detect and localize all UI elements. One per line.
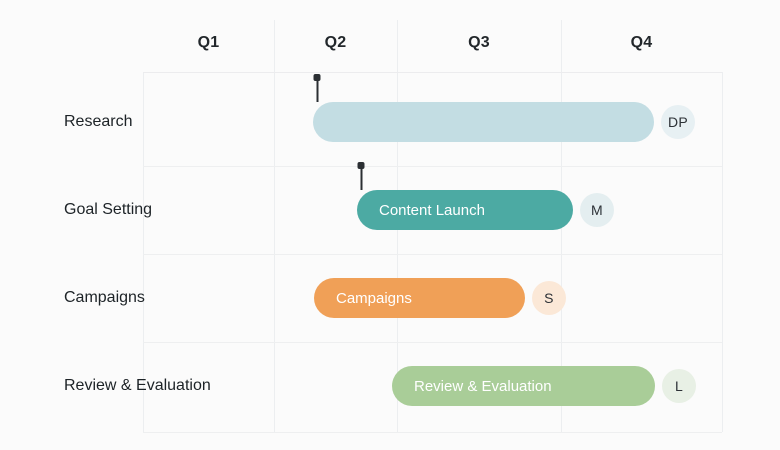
gantt-bar[interactable]: Campaigns <box>314 278 525 318</box>
gantt-bar[interactable]: Review & Evaluation <box>392 366 655 406</box>
header-divider <box>143 72 722 73</box>
quarter-header-q2[interactable]: Q2 <box>274 34 397 52</box>
gantt-bar-label: Review & Evaluation <box>392 378 552 395</box>
milestone-pin-icon[interactable] <box>357 162 366 190</box>
gantt-bar-label: Content Launch <box>357 202 485 219</box>
column-divider <box>722 72 723 432</box>
quarter-header-q3[interactable]: Q3 <box>397 34 561 52</box>
row-divider <box>143 342 722 343</box>
gantt-chart: Q1Q2Q3Q4 ResearchGoal SettingCampaignsRe… <box>0 0 780 450</box>
gantt-bar[interactable] <box>313 102 654 142</box>
row-divider <box>143 432 722 433</box>
task-label: Review & Evaluation <box>64 377 211 395</box>
task-label: Research <box>64 113 132 131</box>
gantt-bar-label: Campaigns <box>314 290 412 307</box>
milestone-pin-icon[interactable] <box>313 74 322 102</box>
row-divider <box>143 166 722 167</box>
avatar[interactable]: L <box>662 369 696 403</box>
gantt-bar[interactable]: Content Launch <box>357 190 573 230</box>
avatar[interactable]: M <box>580 193 614 227</box>
row-divider <box>143 254 722 255</box>
quarter-header-q1[interactable]: Q1 <box>143 34 274 52</box>
quarter-header-q4[interactable]: Q4 <box>561 34 722 52</box>
task-label: Campaigns <box>64 289 145 307</box>
avatar[interactable]: S <box>532 281 566 315</box>
task-label: Goal Setting <box>64 201 152 219</box>
avatar[interactable]: DP <box>661 105 695 139</box>
column-divider <box>274 20 275 432</box>
